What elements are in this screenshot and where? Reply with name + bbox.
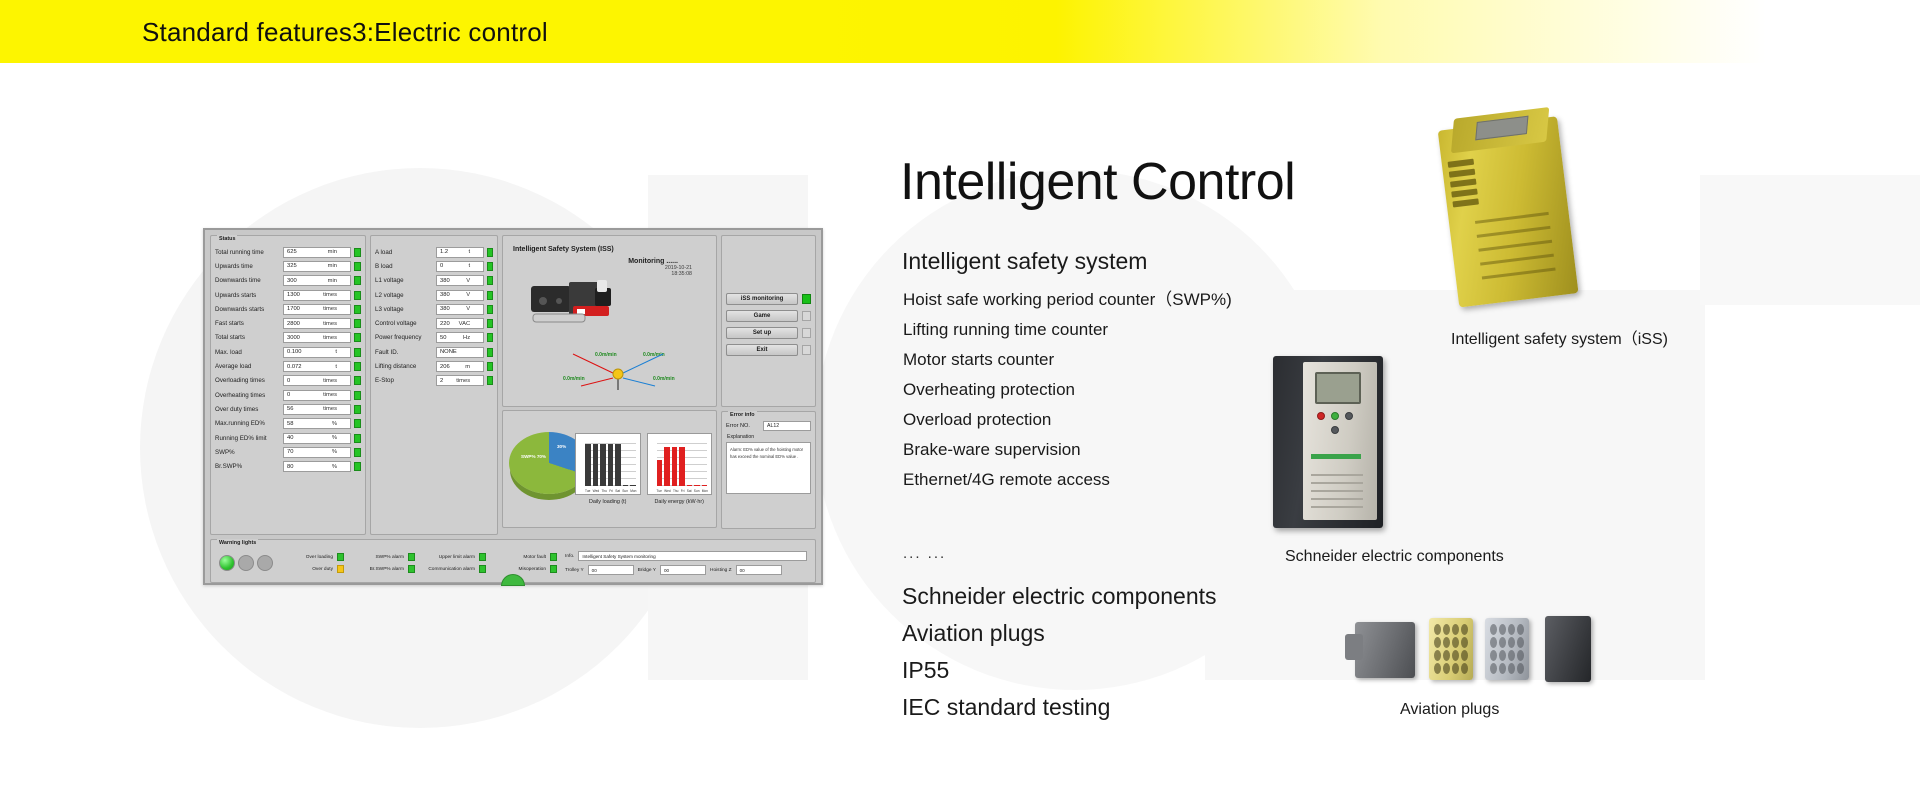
status-field[interactable]: 325min — [283, 261, 351, 272]
warning-label: Over loading — [281, 555, 333, 560]
plug-pin — [1443, 637, 1450, 648]
feature-item: Lifting running time counter — [903, 315, 1232, 345]
chart-gridline — [657, 443, 708, 444]
status-field[interactable]: 0times — [283, 375, 351, 386]
hmi-button[interactable]: Set up — [726, 327, 798, 339]
status-unit: t — [335, 349, 347, 355]
status-led-icon — [354, 248, 361, 257]
status-unit: min — [328, 278, 347, 284]
plug-pin — [1461, 650, 1468, 661]
warning-column-4: Motor faultMisoperation — [494, 553, 557, 573]
warning-column-3: Upper limit alarmCommunication alarm — [423, 553, 486, 573]
chart-tick-label: Tue — [585, 489, 590, 493]
electric-field[interactable]: 0t — [436, 261, 484, 272]
warning-led-icon — [479, 553, 486, 561]
aviation-plugs-image — [1355, 608, 1615, 698]
status-value: 0.072 — [287, 364, 302, 370]
plug-pin — [1499, 624, 1506, 635]
chart-tick-label: Fri — [609, 489, 613, 493]
electric-field[interactable]: NONE — [436, 347, 484, 358]
plug-pin — [1517, 637, 1524, 648]
electric-row: L1 voltage380V — [375, 274, 493, 288]
electric-value: 1.2 — [440, 249, 448, 255]
electric-led-icon — [487, 376, 493, 385]
plug-pin — [1461, 637, 1468, 648]
warning-column-2: SWP% alarmBr.SWP% alarm — [352, 553, 415, 573]
electric-value: 220 — [440, 321, 450, 327]
trolley-label: Trolley Y — [565, 568, 584, 573]
drive-display — [1315, 372, 1361, 404]
hmi-button[interactable]: Exit — [726, 344, 798, 356]
status-unit: times — [323, 321, 347, 327]
warning-group-title: Warning lights — [217, 539, 258, 547]
electric-row: Power frequency50Hz — [375, 331, 493, 345]
electric-value: 380 — [440, 306, 450, 312]
caption-schneider: Schneider electric components — [1285, 548, 1504, 566]
electric-field[interactable]: 206m — [436, 361, 484, 372]
electric-row-list: A load1.2tB load0tL1 voltage380VL2 volta… — [375, 245, 493, 388]
electric-label: L3 voltage — [375, 306, 433, 313]
electric-led-icon — [487, 362, 493, 371]
electric-field[interactable]: 380V — [436, 290, 484, 301]
chart-tick-label: Wed — [593, 489, 600, 493]
hmi-button[interactable]: iSS monitoring — [726, 293, 798, 305]
electric-row: Fault ID.NONE — [375, 345, 493, 359]
subheading: Intelligent safety system — [902, 248, 1147, 275]
status-label: Overheating times — [215, 392, 280, 399]
daily-energy-chart: TueWedThuFriSatSunMon Daily energy (kW·h… — [647, 433, 713, 505]
status-unit: times — [323, 306, 347, 312]
plug-pin — [1452, 624, 1459, 635]
caption-aviation: Aviation plugs — [1400, 701, 1499, 719]
status-row: Max. load0.100t — [215, 345, 361, 359]
chart-bar — [657, 460, 663, 486]
monitoring-group: Intelligent Safety System (ISS) Monitori… — [502, 235, 717, 407]
plug-pin — [1490, 650, 1497, 661]
feature-item: Hoist safe working period counter（SWP%) — [903, 285, 1232, 315]
drive-key-run — [1331, 412, 1339, 420]
status-unit: % — [332, 464, 347, 470]
status-row: Downwards time300min — [215, 274, 361, 288]
warning-lights-group: Warning lights Over loadingOver duty SWP… — [210, 539, 816, 583]
control-buttons-group: iSS monitoringGameSet upExit — [721, 235, 816, 407]
electric-field[interactable]: 380V — [436, 304, 484, 315]
electric-label: B load — [375, 263, 433, 270]
plug-pin — [1517, 650, 1524, 661]
hmi-button-led-icon — [802, 328, 811, 338]
daily-energy-title: Daily energy (kW·hr) — [647, 499, 713, 505]
electric-group: A load1.2tB load0tL1 voltage380VL2 volta… — [370, 235, 498, 535]
status-field[interactable]: 56times — [283, 404, 351, 415]
chart-tick-label: Sat — [615, 489, 620, 493]
warning-label: Communication alarm — [423, 567, 475, 572]
plug-pin — [1490, 637, 1497, 648]
status-value: 625 — [287, 249, 297, 255]
warning-row: Over duty — [281, 565, 344, 573]
plug-pin — [1508, 624, 1515, 635]
status-label: Average load — [215, 363, 280, 370]
plug-pin — [1434, 624, 1441, 635]
plug-hood-neck — [1345, 634, 1363, 660]
status-label: Upwards time — [215, 263, 280, 270]
hmi-button[interactable]: Game — [726, 310, 798, 322]
status-field[interactable]: 625min — [283, 247, 351, 258]
status-unit: % — [332, 449, 347, 455]
status-value: 80 — [287, 464, 293, 470]
status-group: Status Total running time625minUpwards t… — [210, 235, 366, 535]
warning-label: Over duty — [281, 567, 333, 572]
hmi-button-row: iSS monitoring — [726, 293, 811, 305]
status-led-icon — [354, 305, 361, 314]
plug-pin — [1443, 663, 1450, 674]
status-led-icon — [354, 276, 361, 285]
closing-item: Schneider electric components — [902, 578, 1217, 615]
hmi-button-led-icon — [802, 311, 811, 321]
electric-led-icon — [487, 262, 493, 271]
feature-item: Overload protection — [903, 405, 1232, 435]
trolley-value[interactable]: 00 — [588, 565, 634, 575]
info-label: Info. — [565, 554, 574, 559]
status-row: Total running time625min — [215, 245, 361, 259]
status-led-icon — [354, 262, 361, 271]
electric-label: A load — [375, 249, 433, 256]
plug-hood — [1355, 622, 1415, 678]
warning-led-icon — [550, 553, 557, 561]
closing-item: Aviation plugs — [902, 615, 1217, 652]
status-label: Max. load — [215, 349, 280, 356]
status-value: 325 — [287, 263, 297, 269]
electric-field[interactable]: 220VAC — [436, 318, 484, 329]
chart-tick-label: Thu — [673, 489, 679, 493]
lamp-grey-1 — [238, 555, 254, 571]
electric-label: L1 voltage — [375, 277, 433, 284]
error-no-value[interactable]: AL12 — [763, 421, 811, 431]
daily-loading-title: Daily loading (t) — [575, 499, 641, 505]
plug-pin — [1517, 663, 1524, 674]
status-label: Downwards time — [215, 277, 280, 284]
bridge-value[interactable]: 00 — [660, 565, 706, 575]
electric-value: 380 — [440, 292, 450, 298]
warning-column-1: Over loadingOver duty — [281, 553, 344, 573]
warning-row: Motor fault — [494, 553, 557, 561]
status-label: Br.SWP% — [215, 463, 280, 470]
warning-label: Upper limit alarm — [423, 555, 475, 560]
status-led-icon — [354, 348, 361, 357]
electric-led-icon — [487, 348, 493, 357]
status-unit: t — [335, 364, 347, 370]
drive-vent-4 — [1311, 498, 1363, 500]
chart-axis-labels: TueWedThuFriSatSunMon — [585, 489, 637, 493]
chart-bar — [593, 444, 599, 486]
warning-led-icon — [408, 553, 415, 561]
electric-led-icon — [487, 319, 493, 328]
status-field[interactable]: 58% — [283, 418, 351, 429]
status-row: SWP%70% — [215, 445, 361, 459]
status-label: Overloading times — [215, 377, 280, 384]
plug-pin — [1452, 663, 1459, 674]
status-row: Over duty times56times — [215, 402, 361, 416]
status-row: Upwards time325min — [215, 259, 361, 273]
warning-led-icon — [408, 565, 415, 573]
page-title: Standard features3:Electric control — [142, 17, 548, 48]
electric-field[interactable]: 1.2t — [436, 247, 484, 258]
warning-led-icon — [479, 565, 486, 573]
status-value: 0.100 — [287, 349, 302, 355]
chart-axis-labels: TueWedThuFriSatSunMon — [657, 489, 709, 493]
electric-led-icon — [487, 305, 493, 314]
status-value: 1300 — [287, 292, 300, 298]
chart-bar — [615, 444, 621, 486]
status-unit: times — [323, 378, 347, 384]
electric-label: Control voltage — [375, 320, 433, 327]
closing-list: Schneider electric componentsAviation pl… — [902, 578, 1217, 726]
status-led-icon — [354, 391, 361, 400]
headline: Intelligent Control — [900, 152, 1295, 212]
chart-bar — [687, 485, 693, 486]
electric-unit: V — [466, 292, 480, 298]
status-row: Br.SWP%80% — [215, 459, 361, 473]
electric-field[interactable]: 2times — [436, 375, 484, 386]
electric-field[interactable]: 50Hz — [436, 332, 484, 343]
chart-bar — [664, 447, 670, 486]
drive-vent-1 — [1311, 474, 1363, 476]
status-value: 56 — [287, 406, 293, 412]
status-label: SWP% — [215, 449, 280, 456]
status-value: 0 — [287, 392, 290, 398]
chart-bar — [600, 444, 606, 486]
electric-label: Fault ID. — [375, 349, 433, 356]
warning-row: Misoperation — [494, 565, 557, 573]
status-value: 0 — [287, 378, 290, 384]
status-field[interactable]: 2800times — [283, 318, 351, 329]
explanation-label: Explanation — [727, 434, 811, 440]
monitoring-title: Intelligent Safety System (ISS) — [513, 246, 712, 253]
electric-unit: m — [465, 364, 480, 370]
electric-field[interactable]: 380V — [436, 275, 484, 286]
electric-label: Lifting distance — [375, 363, 433, 370]
status-label: Fast starts — [215, 320, 280, 327]
electric-led-icon — [487, 276, 493, 285]
status-row: Fast starts2800times — [215, 316, 361, 330]
title-banner: Standard features3:Electric control — [0, 0, 1920, 63]
status-value: 70 — [287, 449, 293, 455]
status-led-icon — [354, 333, 361, 342]
daily-loading-plot: TueWedThuFriSatSunMon — [575, 433, 641, 495]
status-unit: times — [323, 335, 347, 341]
ellipsis-text: ... ... — [903, 545, 946, 562]
hmi-button-row: Set up — [726, 327, 811, 339]
plug-pin — [1508, 650, 1515, 661]
plug-pin — [1461, 663, 1468, 674]
status-led-icon — [354, 362, 361, 371]
iss-relay-image — [1428, 100, 1602, 322]
electric-unit: VAC — [459, 321, 481, 327]
status-value: 58 — [287, 421, 293, 427]
electric-value: 0 — [440, 263, 443, 269]
chart-tick-label: Thu — [601, 489, 607, 493]
electric-row: L2 voltage380V — [375, 288, 493, 302]
plug-pin — [1434, 663, 1441, 674]
warning-row: Over loading — [281, 553, 344, 561]
speed-indicator-diagram — [563, 348, 673, 396]
chart-bar — [623, 485, 629, 486]
error-group-title: Error info — [728, 411, 757, 419]
pie-label-secondary: 30% — [557, 444, 566, 449]
warning-led-icon — [337, 553, 344, 561]
drive-key-menu — [1345, 412, 1353, 420]
plug-pin — [1499, 637, 1506, 648]
status-unit: times — [323, 392, 347, 398]
drive-keypad — [1317, 412, 1359, 438]
electric-row: A load1.2t — [375, 245, 493, 259]
status-label: Upwards starts — [215, 292, 280, 299]
plug-pin — [1499, 663, 1506, 674]
caption-iss: Intelligent safety system（iSS) — [1451, 325, 1668, 349]
status-field[interactable]: 0.072t — [283, 361, 351, 372]
status-led-icon — [354, 462, 361, 471]
hmi-screenshot-panel: Status Total running time625minUpwards t… — [203, 228, 823, 585]
electric-row: L3 voltage380V — [375, 302, 493, 316]
electric-value: 50 — [440, 335, 446, 341]
plug-pin — [1452, 650, 1459, 661]
status-row: Downwards starts1700times — [215, 302, 361, 316]
plug-pin — [1461, 624, 1468, 635]
warning-label: Br.SWP% alarm — [352, 567, 404, 572]
schneider-drive-image — [1265, 350, 1395, 535]
charts-group: SWP% 70% 30% TueWedThuFriSatSunMon Daily… — [502, 410, 717, 528]
lamp-grey-2 — [257, 555, 273, 571]
hmi-button-led-icon — [802, 294, 811, 304]
plug-pin-grid-silver — [1490, 624, 1524, 674]
status-led-icon — [354, 448, 361, 457]
status-unit: times — [323, 292, 347, 298]
status-label: Total running time — [215, 249, 280, 256]
electric-unit: t — [469, 263, 481, 269]
drive-vent-2 — [1311, 482, 1363, 484]
electric-row: Lifting distance206m — [375, 359, 493, 373]
electric-label: L2 voltage — [375, 292, 433, 299]
electric-unit: times — [456, 378, 480, 384]
status-field[interactable]: 1700times — [283, 304, 351, 315]
status-field[interactable]: 80% — [283, 461, 351, 472]
status-field[interactable]: 70% — [283, 447, 351, 458]
daily-loading-chart: TueWedThuFriSatSunMon Daily loading (t) — [575, 433, 641, 505]
status-led-icon — [354, 434, 361, 443]
coordinate-row: Trolley Y 00 Bridge Y 00 Hoisting Z 00 — [565, 565, 807, 575]
status-field[interactable]: 300min — [283, 275, 351, 286]
electric-led-icon — [487, 291, 493, 300]
status-led-icon — [354, 376, 361, 385]
electric-unit: V — [466, 306, 480, 312]
plug-pin — [1517, 624, 1524, 635]
status-field[interactable]: 1300times — [283, 290, 351, 301]
status-led-icon — [354, 291, 361, 300]
warning-row: Communication alarm — [423, 565, 486, 573]
status-field[interactable]: 40% — [283, 433, 351, 444]
plug-insert-silver — [1485, 618, 1529, 680]
plug-pin — [1499, 650, 1506, 661]
chart-tick-label: Sat — [687, 489, 692, 493]
plug-pin — [1508, 637, 1515, 648]
chart-tick-label: Tue — [657, 489, 662, 493]
status-value: 1700 — [287, 306, 300, 312]
status-unit: min — [328, 249, 347, 255]
chart-tick-label: Fri — [681, 489, 685, 493]
status-row: Max.running ED%58% — [215, 417, 361, 431]
electric-led-icon — [487, 248, 493, 257]
background-panel-3 — [1700, 175, 1920, 305]
chart-bar — [694, 485, 700, 486]
info-value[interactable]: Intelligent Safety System monitoring — [578, 551, 807, 561]
hoisting-label: Hoisting Z — [710, 568, 732, 573]
drive-key-stop — [1317, 412, 1325, 420]
chart-bar — [672, 447, 678, 486]
status-field[interactable]: 0times — [283, 390, 351, 401]
warning-row: Upper limit alarm — [423, 553, 486, 561]
info-row: Info. Intelligent Safety System monitori… — [565, 551, 807, 561]
plug-pin — [1443, 650, 1450, 661]
status-value: 40 — [287, 435, 293, 441]
electric-value: 206 — [440, 364, 450, 370]
status-label: Total starts — [215, 334, 280, 341]
warning-label: Motor fault — [494, 555, 546, 560]
status-led-icon — [354, 319, 361, 328]
status-value: 3000 — [287, 335, 300, 341]
chart-bar — [630, 485, 636, 486]
closing-item: IP55 — [902, 652, 1217, 689]
status-field[interactable]: 0.100t — [283, 347, 351, 358]
plug-pin — [1452, 637, 1459, 648]
feature-item: Brake-ware supervision — [903, 435, 1232, 465]
status-field[interactable]: 3000times — [283, 332, 351, 343]
electric-label: Power frequency — [375, 334, 433, 341]
electric-unit: V — [466, 278, 480, 284]
chart-tick-label: Mon — [702, 489, 708, 493]
drive-brand-bar — [1311, 454, 1361, 459]
warning-label: SWP% alarm — [352, 555, 404, 560]
feature-item: Ethernet/4G remote access — [903, 465, 1232, 495]
electric-unit: t — [469, 249, 481, 255]
plug-pin — [1434, 650, 1441, 661]
hoisting-value[interactable]: 00 — [736, 565, 782, 575]
plug-pin — [1490, 663, 1497, 674]
chart-bar — [585, 444, 591, 486]
bridge-label: Bridge Y — [638, 568, 656, 573]
closing-item: IEC standard testing — [902, 689, 1217, 726]
status-row: Total starts3000times — [215, 331, 361, 345]
pie-label-main: SWP% 70% — [521, 454, 546, 459]
error-info-group: Error info Error NO. AL12 Explanation Al… — [721, 411, 816, 529]
lamp-green — [219, 555, 235, 571]
status-row: Overloading times0times — [215, 374, 361, 388]
chart-bar — [679, 447, 685, 486]
hmi-button-row: Game — [726, 310, 811, 322]
status-row: Average load0.072t — [215, 359, 361, 373]
status-led-icon — [354, 419, 361, 428]
drive-vent-5 — [1311, 506, 1363, 508]
explanation-text: Alarm: ED% value of the hoisting motor h… — [726, 442, 811, 494]
electric-value: NONE — [440, 349, 457, 355]
feature-list: Hoist safe working period counter（SWP%)L… — [903, 285, 1232, 495]
status-unit: % — [332, 435, 347, 441]
status-label: Running ED% limit — [215, 435, 280, 442]
plug-pin — [1434, 637, 1441, 648]
plug-pin — [1443, 624, 1450, 635]
plug-pin-grid-yellow — [1434, 624, 1468, 674]
button-list: iSS monitoringGameSet upExit — [726, 293, 811, 356]
status-value: 300 — [287, 278, 297, 284]
monitoring-subtitle: Monitoring ...... — [507, 258, 678, 265]
